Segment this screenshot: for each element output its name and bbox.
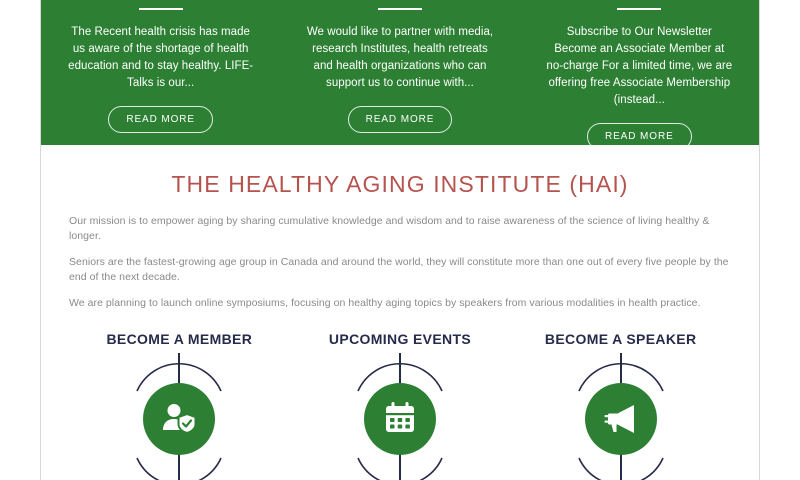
- promo-card-text: Subscribe to Our Newsletter Become an As…: [544, 24, 734, 109]
- page-gutter-left: [0, 0, 41, 480]
- feature-title: BECOME A MEMBER: [106, 331, 252, 347]
- page-gutter-right: [759, 0, 800, 480]
- promo-card-1: The Recent health crisis has made us awa…: [41, 0, 280, 145]
- mission-paragraph: Our mission is to empower aging by shari…: [69, 214, 731, 244]
- feature-title: BECOME A SPEAKER: [545, 331, 697, 347]
- read-more-button-2[interactable]: READ MORE: [348, 106, 453, 133]
- promo-card-3: Subscribe to Our Newsletter Become an As…: [520, 0, 759, 145]
- page-root: The Recent health crisis has made us awa…: [0, 0, 800, 480]
- emblem-decoration: [340, 353, 460, 480]
- feature-columns: BECOME A MEMBER: [69, 331, 731, 480]
- promo-band: The Recent health crisis has made us awa…: [41, 0, 759, 145]
- symposiums-paragraph: We are planning to launch online symposi…: [69, 296, 731, 311]
- read-more-button-1[interactable]: READ MORE: [108, 106, 213, 133]
- emblem-decoration: [119, 353, 239, 480]
- feature-title: UPCOMING EVENTS: [329, 331, 471, 347]
- feature-upcoming-events[interactable]: UPCOMING EVENTS: [290, 331, 511, 480]
- promo-divider-rule: [617, 8, 661, 10]
- promo-card-text: We would like to partner with media, res…: [305, 24, 495, 92]
- emblem-decoration: [561, 353, 681, 480]
- promo-card-2: We would like to partner with media, res…: [280, 0, 519, 145]
- promo-divider-rule: [139, 8, 183, 10]
- promo-card-text: The Recent health crisis has made us awa…: [66, 24, 256, 92]
- read-more-button-3[interactable]: READ MORE: [587, 123, 692, 150]
- main-section: THE HEALTHY AGING INSTITUTE (HAI) Our mi…: [41, 171, 759, 480]
- page-title: THE HEALTHY AGING INSTITUTE (HAI): [69, 171, 731, 198]
- feature-emblem[interactable]: [119, 353, 239, 480]
- page-content: The Recent health crisis has made us awa…: [41, 0, 759, 480]
- feature-become-a-speaker[interactable]: BECOME A SPEAKER: [510, 331, 731, 480]
- promo-divider-rule: [378, 8, 422, 10]
- feature-emblem[interactable]: [561, 353, 681, 480]
- feature-become-a-member[interactable]: BECOME A MEMBER: [69, 331, 290, 480]
- feature-emblem[interactable]: [340, 353, 460, 480]
- demographics-paragraph: Seniors are the fastest-growing age grou…: [69, 255, 731, 285]
